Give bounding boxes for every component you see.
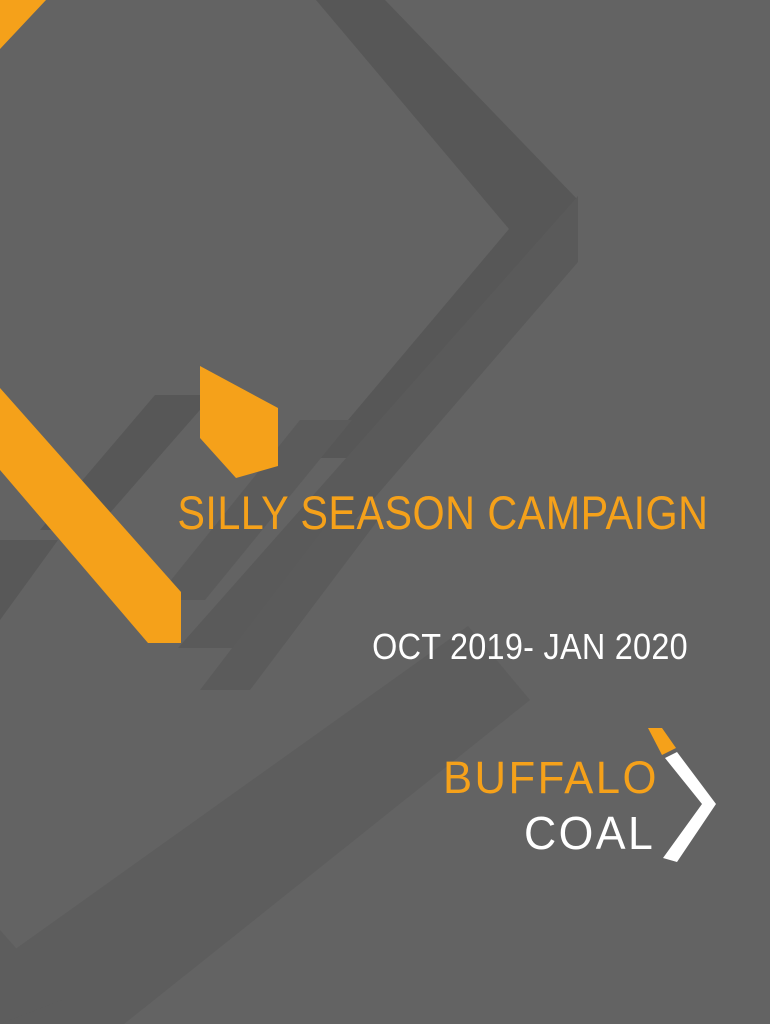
slide-content: SILLY SEASON CAMPAIGN OCT 2019- JAN 2020… xyxy=(0,0,770,1024)
page-title: SILLY SEASON CAMPAIGN xyxy=(177,489,708,536)
chevron-tip-icon xyxy=(648,728,676,755)
chevron-body-icon xyxy=(663,752,716,862)
company-logo: BUFFALO COAL xyxy=(432,722,722,882)
logo-word-buffalo: BUFFALO xyxy=(443,755,659,800)
slide-subtitle: OCT 2019- JAN 2020 xyxy=(372,629,688,665)
chevron-mark-icon xyxy=(632,722,722,872)
title-slide: SILLY SEASON CAMPAIGN OCT 2019- JAN 2020… xyxy=(0,0,770,1024)
